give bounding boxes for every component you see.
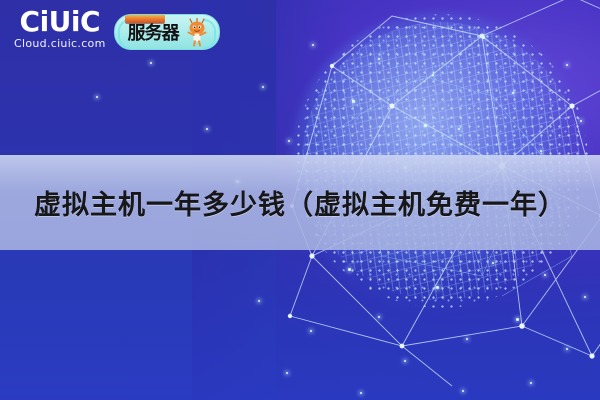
- star-speck: [352, 100, 355, 103]
- title-band: 虚拟主机一年多少钱（虚拟主机免费一年）: [0, 155, 600, 250]
- star-speck: [288, 140, 290, 142]
- star-speck: [206, 128, 208, 130]
- star-speck: [312, 44, 314, 46]
- star-speck: [466, 338, 468, 340]
- star-speck: [310, 330, 312, 332]
- star-speck: [262, 86, 264, 88]
- star-speck: [566, 348, 568, 350]
- server-badge-label: 服务器: [128, 19, 179, 45]
- star-speck: [516, 318, 519, 321]
- mascot-character-icon: [184, 18, 210, 47]
- star-speck: [566, 64, 568, 66]
- logo-domain: Cloud.ciuic.com: [14, 37, 106, 51]
- star-speck: [286, 372, 288, 374]
- star-speck: [458, 128, 460, 130]
- star-speck: [540, 150, 542, 152]
- star-speck: [378, 58, 380, 60]
- logo-wordmark: CiUiC: [20, 7, 101, 37]
- star-speck: [436, 286, 439, 289]
- star-speck: [348, 268, 351, 271]
- star-speck: [512, 92, 514, 94]
- promo-banner: 虚拟主机一年多少钱（虚拟主机免费一年） CiUiC Cloud.ciuic.co…: [0, 0, 600, 400]
- star-speck: [258, 300, 260, 302]
- star-speck: [462, 390, 464, 392]
- star-speck: [432, 74, 434, 76]
- star-speck: [544, 274, 546, 276]
- star-speck: [404, 360, 406, 362]
- server-badge[interactable]: 服务器: [114, 14, 220, 50]
- star-speck: [360, 392, 362, 394]
- star-speck: [96, 96, 98, 98]
- star-speck: [530, 382, 532, 384]
- star-speck: [482, 36, 485, 39]
- star-speck: [492, 262, 494, 264]
- star-speck: [378, 316, 380, 318]
- star-speck: [584, 296, 586, 298]
- star-speck: [150, 62, 152, 64]
- star-speck: [424, 124, 427, 127]
- logo-text-group: CiUiC Cloud.ciuic.com: [14, 6, 106, 51]
- star-speck: [580, 120, 582, 122]
- brand-logo[interactable]: CiUiC Cloud.ciuic.com 服务器: [14, 6, 220, 51]
- page-title: 虚拟主机一年多少钱（虚拟主机免费一年）: [34, 183, 566, 222]
